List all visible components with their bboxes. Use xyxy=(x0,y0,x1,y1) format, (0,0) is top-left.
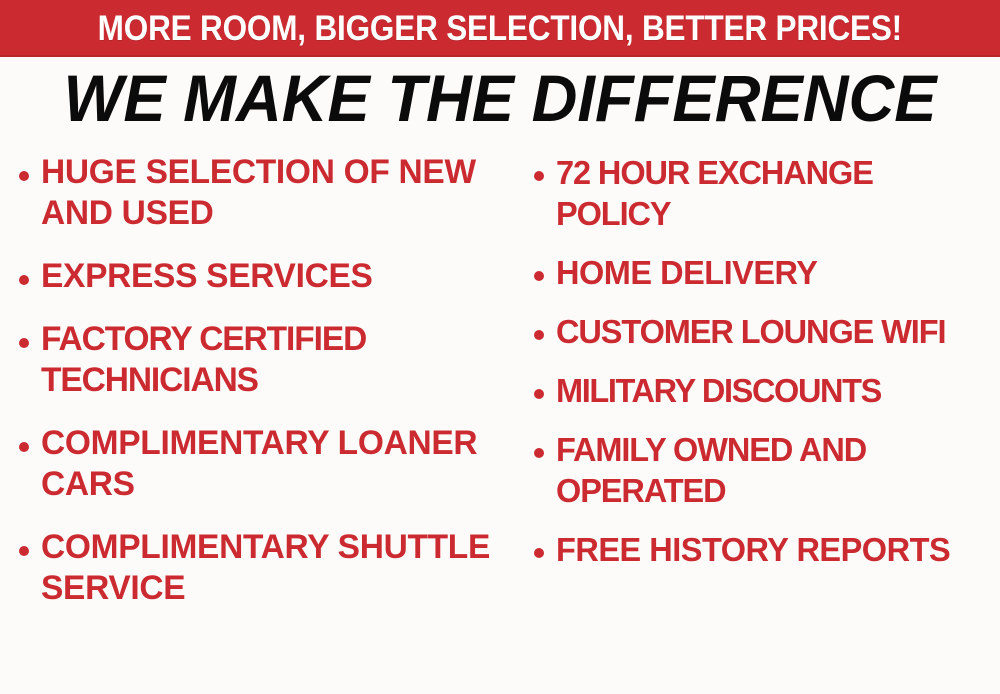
list-item-label: COMPLIMENTARY LOANER CARS xyxy=(41,423,505,505)
bullet-dot-icon xyxy=(19,338,29,348)
list-item: HOME DELIVERY xyxy=(534,252,1000,293)
benefits-columns: HUGE SELECTION OF NEW AND USED EXPRESS S… xyxy=(0,152,1000,694)
bullet-dot-icon xyxy=(19,171,29,181)
list-item-label: FAMILY OWNED AND OPERATED xyxy=(556,429,993,511)
list-item: COMPLIMENTARY LOANER CARS xyxy=(19,423,512,505)
benefits-column-left: HUGE SELECTION OF NEW AND USED EXPRESS S… xyxy=(0,152,512,631)
top-banner: MORE ROOM, BIGGER SELECTION, BETTER PRIC… xyxy=(0,0,1000,57)
list-item: MILITARY DISCOUNTS xyxy=(534,370,1000,411)
list-item-label: MILITARY DISCOUNTS xyxy=(556,370,993,411)
list-item-label: COMPLIMENTARY SHUTTLE SERVICE xyxy=(41,527,505,609)
bullet-dot-icon xyxy=(534,271,544,281)
dealership-promo-ad: MORE ROOM, BIGGER SELECTION, BETTER PRIC… xyxy=(0,0,1000,694)
list-item: FAMILY OWNED AND OPERATED xyxy=(534,429,1000,511)
banner-headline-text: MORE ROOM, BIGGER SELECTION, BETTER PRIC… xyxy=(98,11,902,46)
list-item: 72 HOUR EXCHANGE POLICY xyxy=(534,152,1000,234)
bullet-dot-icon xyxy=(534,389,544,399)
list-item: FACTORY CERTIFIED TECHNICIANS xyxy=(19,319,512,401)
list-item: FREE HISTORY REPORTS xyxy=(534,529,1000,570)
benefits-column-right: 72 HOUR EXCHANGE POLICY HOME DELIVERY CU… xyxy=(512,152,1000,588)
list-item-label: HOME DELIVERY xyxy=(556,252,993,293)
page-title: WE MAKE THE DIFFERENCE xyxy=(20,63,980,133)
list-item: EXPRESS SERVICES xyxy=(19,256,512,297)
list-item: COMPLIMENTARY SHUTTLE SERVICE xyxy=(19,527,512,609)
list-item-label: CUSTOMER LOUNGE WIFI xyxy=(556,311,993,352)
list-item: CUSTOMER LOUNGE WIFI xyxy=(534,311,1000,352)
list-item-label: EXPRESS SERVICES xyxy=(41,256,505,297)
bullet-dot-icon xyxy=(534,548,544,558)
bullet-dot-icon xyxy=(19,275,29,285)
bullet-dot-icon xyxy=(534,171,544,181)
list-item-label: FACTORY CERTIFIED TECHNICIANS xyxy=(41,319,505,401)
list-item: HUGE SELECTION OF NEW AND USED xyxy=(19,152,512,234)
list-item-label: FREE HISTORY REPORTS xyxy=(556,529,993,570)
bullet-dot-icon xyxy=(19,546,29,556)
bullet-dot-icon xyxy=(19,442,29,452)
bullet-dot-icon xyxy=(534,330,544,340)
list-item-label: 72 HOUR EXCHANGE POLICY xyxy=(556,152,993,234)
bullet-dot-icon xyxy=(534,448,544,458)
list-item-label: HUGE SELECTION OF NEW AND USED xyxy=(41,152,505,234)
